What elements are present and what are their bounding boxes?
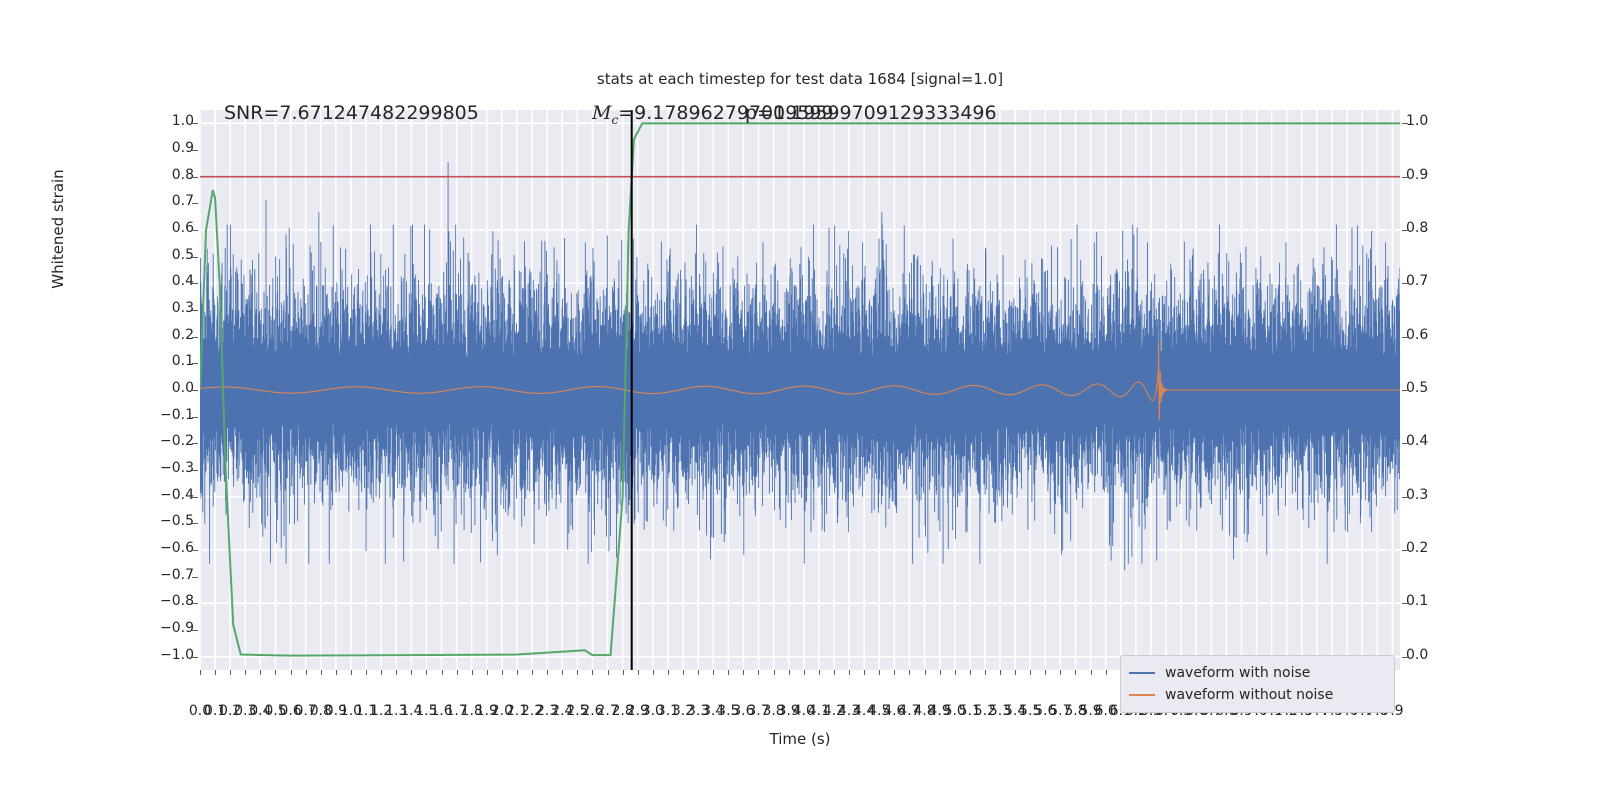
y-tick-label-left: 0.3: [14, 300, 194, 316]
x-tick-mark: [849, 670, 850, 675]
annotation-snr: SNR=7.671247482299805: [224, 102, 479, 124]
x-tick-mark: [200, 670, 201, 675]
series-waveform-with-noise: [200, 162, 1400, 570]
y-tick-label-left: 0.5: [14, 247, 194, 263]
y-tick-mark-left: [192, 363, 198, 364]
y-tick-label-right: 0.9: [1406, 167, 1586, 183]
x-tick-mark: [955, 670, 956, 675]
x-tick-mark: [1091, 670, 1092, 675]
x-tick-mark: [502, 670, 503, 675]
y-tick-mark-left: [192, 203, 198, 204]
y-tick-mark-left: [192, 603, 198, 604]
legend-label-clean: waveform without noise: [1165, 687, 1333, 703]
x-tick-mark: [366, 670, 367, 675]
y-tick-mark-left: [192, 470, 198, 471]
y-tick-mark-right: [1402, 550, 1408, 551]
y-tick-label-left: −0.7: [14, 567, 194, 583]
y-tick-label-left: 0.0: [14, 380, 194, 396]
x-tick-mark: [577, 670, 578, 675]
annotation-probability: p=0.19599709129333496: [745, 102, 997, 124]
x-tick-mark: [1030, 670, 1031, 675]
x-tick-mark: [985, 670, 986, 675]
x-tick-mark: [260, 670, 261, 675]
y-tick-mark-left: [192, 283, 198, 284]
x-tick-mark: [774, 670, 775, 675]
y-tick-mark-right: [1402, 123, 1408, 124]
x-tick-mark: [517, 670, 518, 675]
x-tick-mark: [683, 670, 684, 675]
x-tick-mark: [532, 670, 533, 675]
y-tick-label-right: 0.5: [1406, 380, 1586, 396]
x-tick-mark: [743, 670, 744, 675]
x-tick-mark: [698, 670, 699, 675]
x-tick-mark: [306, 670, 307, 675]
x-tick-mark: [245, 670, 246, 675]
x-tick-mark: [1106, 670, 1107, 675]
x-tick-mark: [925, 670, 926, 675]
figure: stats at each timestep for test data 168…: [0, 0, 1600, 800]
y-tick-label-left: −0.2: [14, 433, 194, 449]
plot-area: [200, 110, 1400, 670]
x-tick-mark: [713, 670, 714, 675]
y-tick-mark-left: [192, 150, 198, 151]
y-tick-mark-right: [1402, 337, 1408, 338]
y-tick-mark-left: [192, 630, 198, 631]
y-tick-label-left: 0.4: [14, 273, 194, 289]
y-tick-mark-left: [192, 390, 198, 391]
y-tick-label-right: 1.0: [1406, 113, 1586, 129]
y-tick-label-right: 0.1: [1406, 593, 1586, 609]
x-tick-mark: [879, 670, 880, 675]
y-tick-label-left: 0.1: [14, 353, 194, 369]
legend: waveform with noise waveform without noi…: [1120, 655, 1395, 713]
x-tick-mark: [562, 670, 563, 675]
x-tick-mark: [381, 670, 382, 675]
plot-canvas: [200, 110, 1400, 670]
x-tick-mark: [457, 670, 458, 675]
x-tick-mark: [426, 670, 427, 675]
x-tick-mark: [668, 670, 669, 675]
y-tick-label-left: −0.3: [14, 460, 194, 476]
y-tick-mark-right: [1402, 177, 1408, 178]
y-tick-label-right: 0.6: [1406, 327, 1586, 343]
y-tick-label-left: 0.7: [14, 193, 194, 209]
x-tick-mark: [592, 670, 593, 675]
x-tick-mark: [864, 670, 865, 675]
y-tick-mark-left: [192, 310, 198, 311]
x-tick-mark: [1000, 670, 1001, 675]
y-tick-label-right: 0.4: [1406, 433, 1586, 449]
x-tick-mark: [728, 670, 729, 675]
y-tick-mark-left: [192, 657, 198, 658]
x-tick-mark: [396, 670, 397, 675]
y-tick-label-left: 0.6: [14, 220, 194, 236]
y-tick-mark-right: [1402, 603, 1408, 604]
y-tick-label-left: 1.0: [14, 113, 194, 129]
x-tick-mark: [1075, 670, 1076, 675]
y-tick-label-left: 0.8: [14, 167, 194, 183]
y-tick-mark-right: [1402, 443, 1408, 444]
x-tick-mark: [758, 670, 759, 675]
y-tick-label-right: 0.8: [1406, 220, 1586, 236]
x-tick-mark: [638, 670, 639, 675]
y-tick-label-left: 0.9: [14, 140, 194, 156]
y-tick-mark-right: [1402, 657, 1408, 658]
legend-item: waveform with noise: [1129, 662, 1386, 684]
x-tick-mark: [1045, 670, 1046, 675]
y-tick-mark-right: [1402, 390, 1408, 391]
y-tick-label-right: 0.0: [1406, 647, 1586, 663]
legend-swatch-clean: [1129, 694, 1155, 696]
x-tick-mark: [351, 670, 352, 675]
y-tick-mark-left: [192, 177, 198, 178]
x-tick-mark: [472, 670, 473, 675]
legend-swatch-noise: [1129, 672, 1155, 674]
x-tick-mark: [789, 670, 790, 675]
y-tick-label-left: −0.1: [14, 407, 194, 423]
y-tick-mark-right: [1402, 497, 1408, 498]
y-tick-label-left: −0.5: [14, 513, 194, 529]
y-tick-label-right: 0.2: [1406, 540, 1586, 556]
y-tick-mark-left: [192, 417, 198, 418]
y-tick-mark-right: [1402, 230, 1408, 231]
x-axis-label: Time (s): [200, 730, 1400, 748]
x-tick-mark: [321, 670, 322, 675]
y-tick-mark-left: [192, 523, 198, 524]
y-tick-mark-left: [192, 230, 198, 231]
x-tick-mark: [653, 670, 654, 675]
y-tick-label-left: −0.6: [14, 540, 194, 556]
x-tick-mark: [1015, 670, 1016, 675]
y-tick-mark-left: [192, 497, 198, 498]
y-tick-label-left: −0.9: [14, 620, 194, 636]
legend-label-noise: waveform with noise: [1165, 665, 1310, 681]
x-tick-mark: [411, 670, 412, 675]
x-tick-mark: [834, 670, 835, 675]
x-tick-mark: [1060, 670, 1061, 675]
x-tick-mark: [608, 670, 609, 675]
x-tick-mark: [291, 670, 292, 675]
legend-item: waveform without noise: [1129, 684, 1386, 706]
x-tick-mark: [275, 670, 276, 675]
y-tick-label-right: 0.7: [1406, 273, 1586, 289]
y-tick-mark-left: [192, 257, 198, 258]
x-tick-mark: [487, 670, 488, 675]
y-tick-label-right: 0.3: [1406, 487, 1586, 503]
x-tick-mark: [940, 670, 941, 675]
y-tick-mark-left: [192, 123, 198, 124]
y-tick-mark-left: [192, 337, 198, 338]
x-tick-mark: [894, 670, 895, 675]
y-tick-label-left: −1.0: [14, 647, 194, 663]
y-tick-label-left: −0.4: [14, 487, 194, 503]
x-tick-mark: [623, 670, 624, 675]
y-tick-mark-left: [192, 550, 198, 551]
y-tick-mark-left: [192, 443, 198, 444]
x-tick-mark: [547, 670, 548, 675]
x-tick-mark: [909, 670, 910, 675]
x-tick-mark: [819, 670, 820, 675]
x-tick-mark: [442, 670, 443, 675]
x-tick-mark: [230, 670, 231, 675]
x-tick-mark: [804, 670, 805, 675]
y-tick-label-left: −0.8: [14, 593, 194, 609]
y-tick-mark-right: [1402, 283, 1408, 284]
x-tick-mark: [336, 670, 337, 675]
page-title: stats at each timestep for test data 168…: [0, 70, 1600, 88]
x-tick-mark: [215, 670, 216, 675]
y-tick-mark-left: [192, 577, 198, 578]
chirp-mass-symbol: M: [592, 102, 611, 124]
x-tick-mark: [970, 670, 971, 675]
y-tick-label-left: 0.2: [14, 327, 194, 343]
